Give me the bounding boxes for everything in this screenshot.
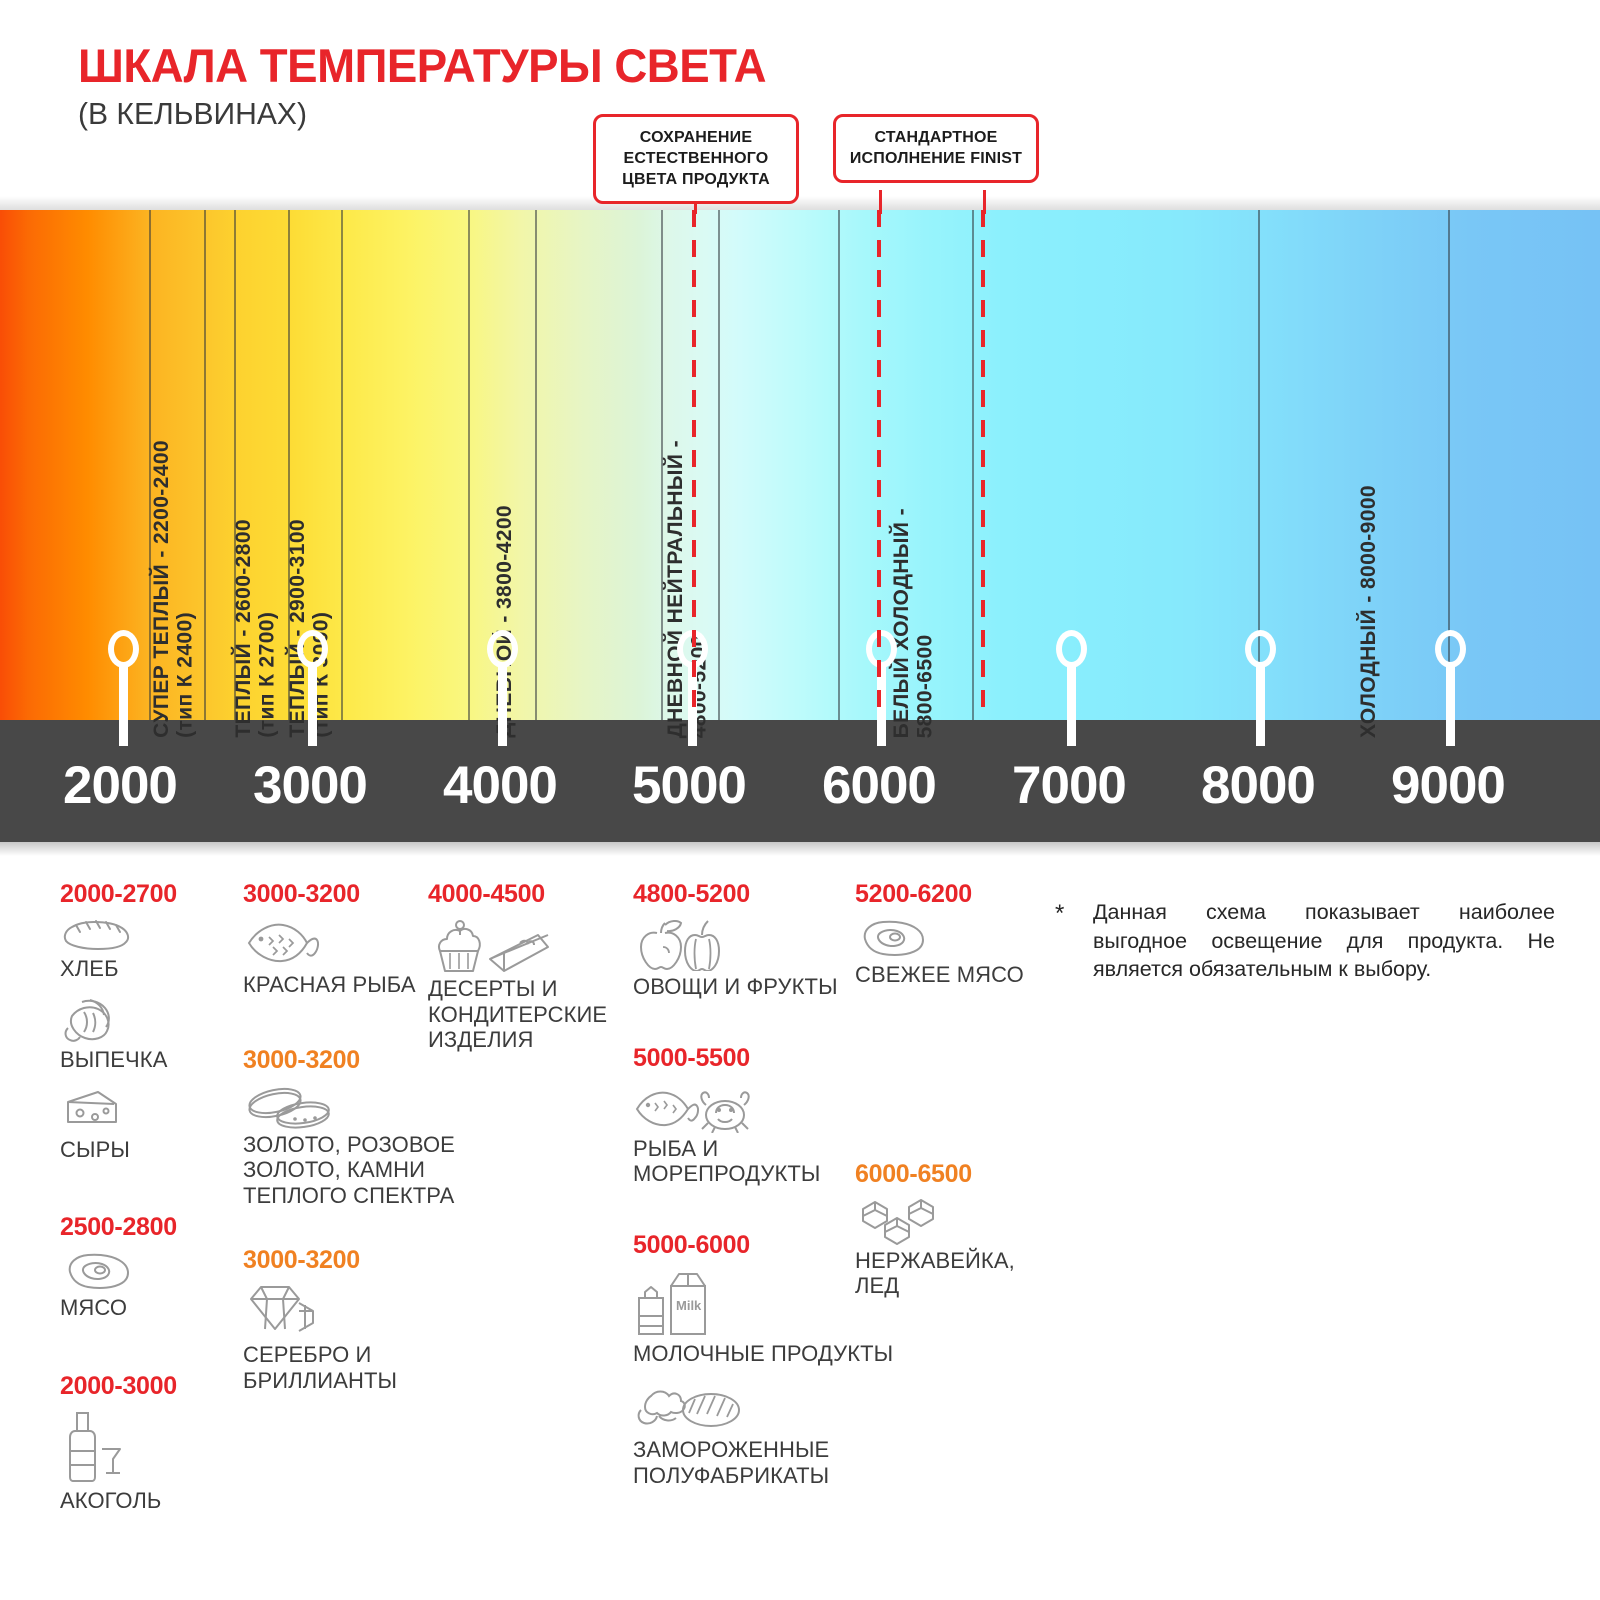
- legend-range: 5000-5500: [633, 1044, 853, 1073]
- legend-group: 2000-3000 АКОГОЛЬ: [60, 1372, 225, 1514]
- pin-head: [1245, 630, 1276, 668]
- pin-stem: [1256, 664, 1265, 746]
- legend-range: 3000-3200: [243, 1246, 483, 1275]
- legend-caption: СВЕЖЕЕ МЯСО: [855, 962, 1040, 988]
- legend-item-fruits-vegetables: ОВОЩИ И ФРУКТЫ: [633, 917, 853, 1000]
- tick-label-9000: 9000: [1391, 755, 1505, 816]
- pin-head: [487, 630, 518, 668]
- tick-bar-shadow: [0, 842, 1600, 856]
- tick-label-6000: 6000: [822, 755, 936, 816]
- legend-caption: ХЛЕБ: [60, 956, 225, 982]
- legend-item-frozen: ЗАМОРОЖЕННЫЕ ПОЛУФАБРИКАТЫ: [633, 1382, 933, 1488]
- footnote: * Данная схема показывает наиболее выгод…: [1055, 898, 1555, 984]
- scale-top-shadow: [0, 196, 1600, 210]
- bread-icon: [60, 917, 134, 953]
- callout-natural-color-text: СОХРАНЕНИЕ ЕСТЕСТВЕННОГО ЦВЕТА ПРОДУКТА: [622, 129, 770, 188]
- band-label-line1: ХОЛОДНЫЙ - 8000-9000: [1357, 485, 1380, 738]
- legend-range: 5200-6200: [855, 880, 1040, 909]
- header: ШКАЛА ТЕМПЕРАТУРЫ СВЕТА (В КЕЛЬВИНАХ): [0, 0, 1600, 200]
- band-label-line1: БЕЛЫЙ ХОЛОДНЫЙ -: [890, 508, 913, 738]
- legend-item-ice: НЕРЖАВЕЙКА, ЛЕД: [855, 1197, 1040, 1299]
- band-label-line1: ТЕПЛЫЙ - 2900-3100: [286, 519, 309, 738]
- svg-text:Milk: Milk: [676, 1298, 702, 1313]
- band-divider: [204, 210, 206, 720]
- legend-caption: ОВОЩИ И ФРУКТЫ: [633, 974, 853, 1000]
- band-label-line1: ТЕПЛЫЙ - 2600-2800: [232, 519, 255, 738]
- pin-head: [108, 630, 139, 668]
- legend: 2000-2700 ХЛЕБ ВЫПЕЧКА: [0, 880, 1600, 1600]
- legend-item-meat: МЯСО: [60, 1250, 225, 1321]
- band-label-cold: ХОЛОДНЫЙ - 8000-9000: [1358, 485, 1379, 738]
- footnote-text: Данная схема показывает наиболее выгодно…: [1093, 898, 1555, 984]
- legend-item-bread: ХЛЕБ: [60, 917, 225, 982]
- page-title: ШКАЛА ТЕМПЕРАТУРЫ СВЕТА: [78, 38, 766, 93]
- legend-item-croissant: ВЫПЕЧКА: [60, 996, 225, 1073]
- tick-label-8000: 8000: [1201, 755, 1315, 816]
- legend-item-gold: ЗОЛОТО, РОЗОВОЕ ЗОЛОТО, КАМНИ ТЕПЛОГО СП…: [243, 1083, 483, 1209]
- tick-bar: [0, 720, 1600, 842]
- band-label-line1: ДНЕВНОЙ НЕЙТРАЛЬНЫЙ -: [664, 440, 687, 738]
- legend-caption: ЗОЛОТО, РОЗОВОЕ ЗОЛОТО, КАМНИ ТЕПЛОГО СП…: [243, 1132, 483, 1209]
- temperature-scale: СУПЕР ТЕПЛЫЙ - 2200-2400 (тип К 2400) ТЕ…: [0, 196, 1600, 856]
- pin-head: [1435, 630, 1466, 668]
- band-label-line2: (тип К 2700): [256, 612, 279, 738]
- legend-group: 5200-6200 СВЕЖЕЕ МЯСО: [855, 880, 1040, 988]
- fish-crab-icon: [633, 1081, 753, 1133]
- tick-label-2000: 2000: [63, 755, 177, 816]
- marker-line-natural-color: [692, 210, 696, 720]
- legend-group: 2500-2800 МЯСО: [60, 1213, 225, 1321]
- legend-caption: МОЛОЧНЫЕ ПРОДУКТЫ: [633, 1341, 933, 1367]
- legend-column-1: 2000-2700 ХЛЕБ ВЫПЕЧКА: [60, 880, 225, 1516]
- band-label-super-warm: СУПЕР ТЕПЛЫЙ - 2200-2400 (тип К 2400): [150, 440, 197, 738]
- callout-finist-stem-right: [983, 190, 986, 214]
- band-divider: [661, 210, 663, 720]
- band-divider: [468, 210, 470, 720]
- legend-range: 2000-2700: [60, 880, 225, 909]
- legend-group: 6000-6500 НЕРЖАВЕЙКА, ЛЕД: [855, 1160, 1040, 1299]
- legend-range: 4000-4500: [428, 880, 628, 909]
- legend-column-3: 4000-4500 ДЕСЕРТЫ И КОНДИТЕРСКИЕ ИЗДЕЛИЯ: [428, 880, 628, 1055]
- pin-head: [1056, 630, 1087, 668]
- callout-natural-color: СОХРАНЕНИЕ ЕСТЕСТВЕННОГО ЦВЕТА ПРОДУКТА: [593, 114, 799, 204]
- band-label-white-cold: БЕЛЫЙ ХОЛОДНЫЙ - 5800-6500: [890, 508, 937, 738]
- legend-column-5: 5200-6200 СВЕЖЕЕ МЯСО 6000-6500: [855, 880, 1040, 1301]
- legend-caption: СЫРЫ: [60, 1137, 225, 1163]
- band-divider: [972, 210, 974, 720]
- dessert-icon: [428, 917, 556, 973]
- legend-group: 3000-3200 ЗОЛОТО, РОЗОВОЕ ЗОЛОТО, КАМНИ …: [243, 1046, 483, 1209]
- pin-stem: [308, 664, 317, 746]
- croissant-icon: [60, 996, 130, 1044]
- pin-stem: [498, 664, 507, 746]
- legend-range: 2000-3000: [60, 1372, 225, 1401]
- fresh-meat-icon: [855, 917, 931, 959]
- steak-icon: [60, 1250, 136, 1292]
- legend-item-cheese: СЫРЫ: [60, 1086, 225, 1163]
- pin-stem: [1446, 664, 1455, 746]
- tick-label-4000: 4000: [443, 755, 557, 816]
- band-label-line1: СУПЕР ТЕПЛЫЙ - 2200-2400: [150, 440, 173, 738]
- legend-item-diamond: СЕРЕБРО И БРИЛЛИАНТЫ: [243, 1283, 483, 1393]
- band-divider: [535, 210, 537, 720]
- tick-label-5000: 5000: [632, 755, 746, 816]
- diamond-icon: [243, 1283, 323, 1339]
- bottle-glass-icon: [60, 1409, 130, 1485]
- band-label-line2: 5800-6500: [914, 634, 937, 738]
- band-divider: [838, 210, 840, 720]
- legend-caption: МЯСО: [60, 1295, 225, 1321]
- legend-caption: ЗАМОРОЖЕННЫЕ ПОЛУФАБРИКАТЫ: [633, 1437, 933, 1488]
- ice-cube-icon: [855, 1197, 947, 1245]
- pin-head: [866, 630, 897, 668]
- legend-item-desserts: ДЕСЕРТЫ И КОНДИТЕРСКИЕ ИЗДЕЛИЯ: [428, 917, 628, 1053]
- band-divider: [341, 210, 343, 720]
- legend-group: 4000-4500 ДЕСЕРТЫ И КОНДИТЕРСКИЕ ИЗДЕЛИЯ: [428, 880, 628, 1053]
- legend-caption: НЕРЖАВЕЙКА, ЛЕД: [855, 1248, 1040, 1299]
- tick-label-7000: 7000: [1012, 755, 1126, 816]
- legend-item-seafood: РЫБА И МОРЕПРОДУКТЫ: [633, 1081, 853, 1187]
- band-divider: [718, 210, 720, 720]
- legend-column-4: 4800-5200 ОВОЩИ И ФРУКТЫ 5000-5500: [633, 880, 853, 1490]
- milk-icon: Milk: [633, 1268, 729, 1338]
- pin-stem: [119, 664, 128, 746]
- callout-finist-stem-left: [879, 190, 882, 214]
- cheese-icon: [60, 1086, 124, 1134]
- rings-icon: [243, 1083, 335, 1129]
- tick-label-3000: 3000: [253, 755, 367, 816]
- page-subtitle: (В КЕЛЬВИНАХ): [78, 96, 307, 132]
- legend-caption: АКОГОЛЬ: [60, 1488, 225, 1514]
- legend-range: 2500-2800: [60, 1213, 225, 1242]
- callout-finist-standard: СТАНДАРТНОЕ ИСПОЛНЕНИЕ FINIST: [833, 114, 1039, 183]
- fruit-vegetable-icon: [633, 917, 729, 971]
- legend-caption: ВЫПЕЧКА: [60, 1047, 225, 1073]
- legend-item-alcohol: АКОГОЛЬ: [60, 1409, 225, 1514]
- legend-group: 5000-5500 РЫБА И МОРЕПРОДУКТЫ: [633, 1044, 853, 1187]
- pin-head: [297, 630, 328, 668]
- callout-finist-standard-text: СТАНДАРТНОЕ ИСПОЛНЕНИЕ FINIST: [850, 129, 1022, 167]
- legend-range: 4800-5200: [633, 880, 853, 909]
- legend-group: 2000-2700 ХЛЕБ ВЫПЕЧКА: [60, 880, 225, 1163]
- marker-line-finist-left: [877, 210, 881, 720]
- legend-caption: ДЕСЕРТЫ И КОНДИТЕРСКИЕ ИЗДЕЛИЯ: [428, 976, 628, 1053]
- legend-caption: СЕРЕБРО И БРИЛЛИАНТЫ: [243, 1342, 483, 1393]
- legend-range: 6000-6500: [855, 1160, 1040, 1189]
- marker-line-finist-right: [981, 210, 985, 720]
- legend-group: 4800-5200 ОВОЩИ И ФРУКТЫ: [633, 880, 853, 1000]
- pin-stem: [1067, 664, 1076, 746]
- frozen-food-icon: [633, 1382, 743, 1434]
- band-label-warm-2700: ТЕПЛЫЙ - 2600-2800 (тип К 2700): [232, 519, 279, 738]
- band-label-line2: (тип К 2400): [174, 612, 197, 738]
- footnote-marker: *: [1055, 898, 1064, 930]
- legend-caption: РЫБА И МОРЕПРОДУКТЫ: [633, 1136, 853, 1187]
- legend-group: 3000-3200 СЕРЕБРО И БРИЛЛИАНТЫ: [243, 1246, 483, 1393]
- legend-item-fresh-meat: СВЕЖЕЕ МЯСО: [855, 917, 1040, 988]
- fish-icon: [243, 917, 321, 969]
